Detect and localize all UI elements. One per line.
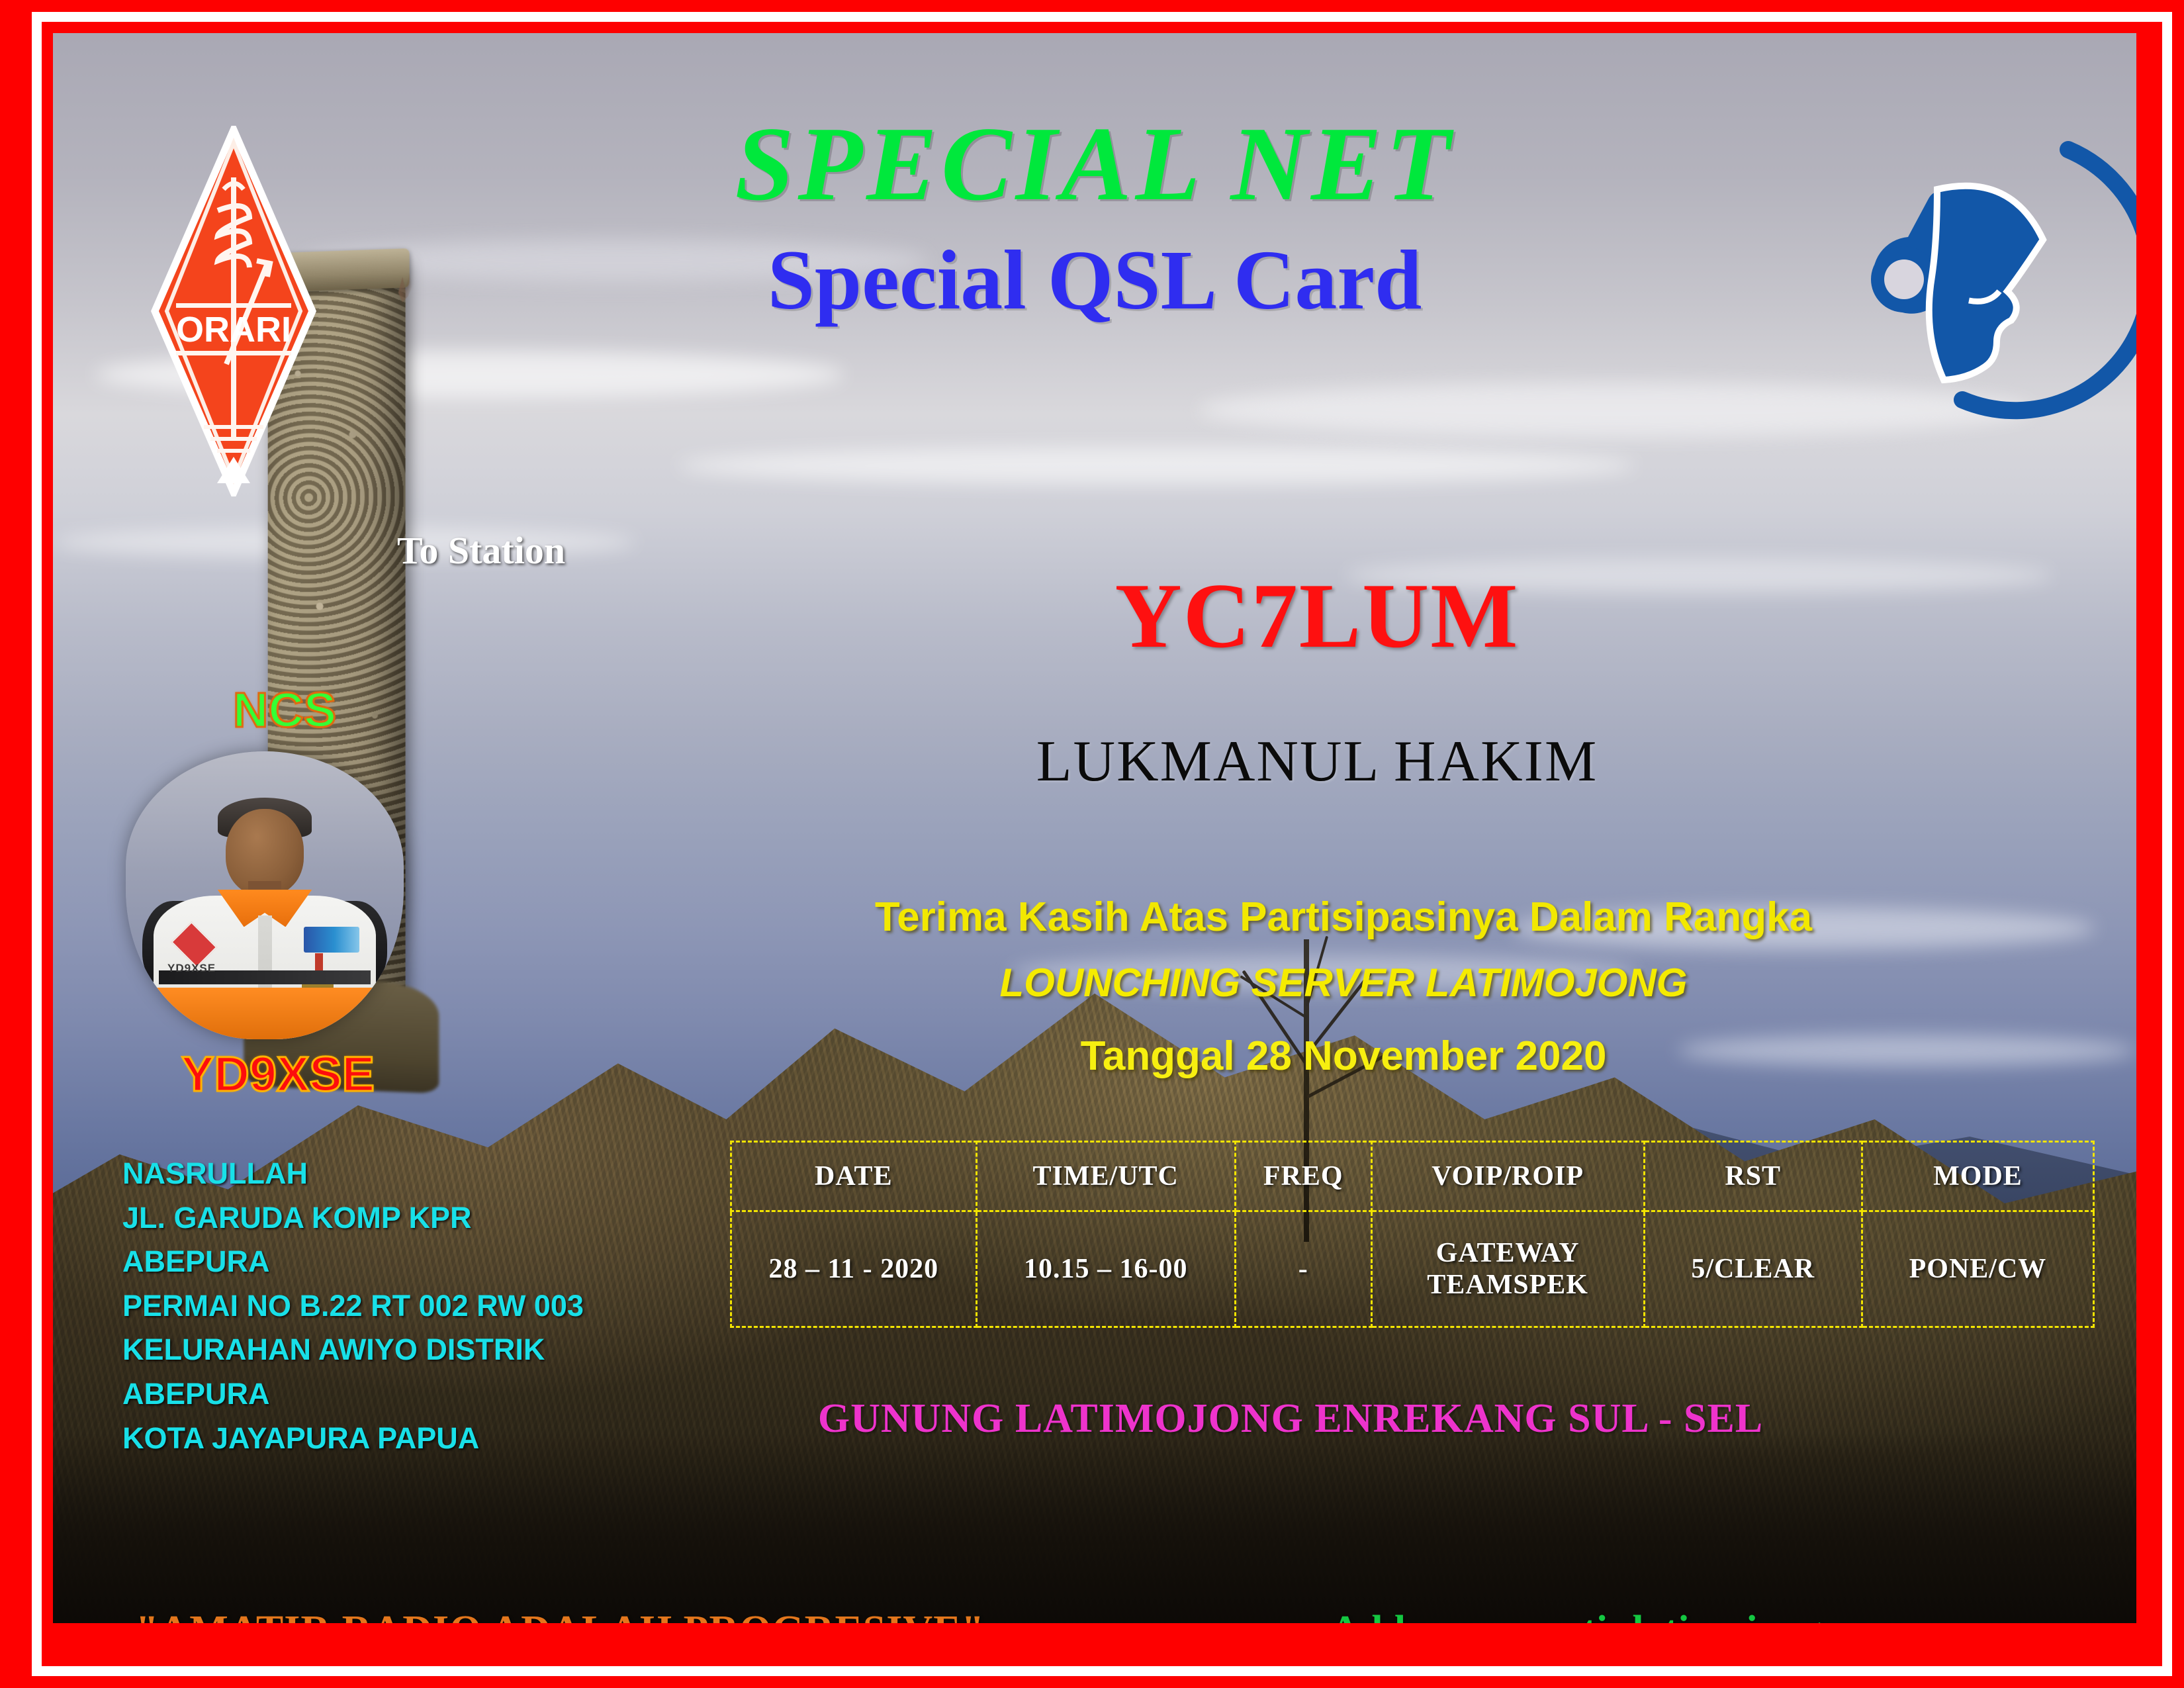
- portrait-orange-sash: [154, 988, 376, 1039]
- cell-freq: -: [1235, 1211, 1371, 1327]
- column-header-time-utc: TIME/UTC: [976, 1142, 1235, 1211]
- ncs-role-label: NCS: [185, 682, 384, 738]
- column-header-mode: MODE: [1862, 1142, 2093, 1211]
- ncs-operator-photo: YD9XSE: [126, 751, 404, 1039]
- page-subtitle-special-qsl-card: Special QSL Card: [53, 232, 2136, 329]
- qsl-card-frame: ORARI SPECIAL NET Special QSL Card: [0, 0, 2184, 1688]
- event-date-line: Tanggal 28 November 2020: [781, 1033, 1906, 1080]
- cloud-streak: [678, 447, 1636, 485]
- address-line: ABEPURA: [122, 1240, 584, 1284]
- station-callsign: YC7LUM: [821, 563, 1813, 669]
- cell-voip-roip: GATEWAY TEAMSPEK: [1371, 1211, 1644, 1327]
- to-station-label: To Station: [397, 528, 565, 573]
- cell-voip-line2: TEAMSPEK: [1374, 1269, 1642, 1301]
- address-line: NASRULLAH: [122, 1152, 584, 1196]
- cell-date: 28 – 11 - 2020: [731, 1211, 977, 1327]
- address-line: KOTA JAYAPURA PAPUA: [122, 1417, 584, 1461]
- column-header-rst: RST: [1644, 1142, 1862, 1211]
- bottom-vignette: [53, 1432, 2136, 1623]
- portrait-org-logo-patch: [304, 927, 359, 953]
- column-header-voip-roip: VOIP/ROIP: [1371, 1142, 1644, 1211]
- table-header-row: DATE TIME/UTC FREQ VOIP/ROIP RST MODE: [731, 1142, 2094, 1211]
- page-title-special-net: SPECIAL NET: [53, 103, 2136, 225]
- address-line: ABEPURA: [122, 1372, 584, 1417]
- card-background-photo: ORARI SPECIAL NET Special QSL Card: [53, 33, 2136, 1623]
- thanks-line: Terima Kasih Atas Partisipasinya Dalam R…: [781, 894, 1906, 941]
- ncs-callsign: YD9XSE: [139, 1046, 417, 1102]
- cell-voip-line1: GATEWAY: [1374, 1237, 1642, 1269]
- web-address-line: Address : amatir.latimojong.com: [1330, 1607, 1905, 1623]
- table-row: 28 – 11 - 2020 10.15 – 16-00 - GATEWAY T…: [731, 1211, 2094, 1327]
- address-line: JL. GARUDA KOMP KPR: [122, 1196, 584, 1241]
- address-line: PERMAI NO B.22 RT 002 RW 003: [122, 1284, 584, 1329]
- cell-rst: 5/CLEAR: [1644, 1211, 1862, 1327]
- cell-time: 10.15 – 16-00: [976, 1211, 1235, 1327]
- card-slogan: "AMATIR RADIO ADALAH PROGRESIVE": [136, 1607, 985, 1623]
- column-header-date: DATE: [731, 1142, 977, 1211]
- qso-log-table: DATE TIME/UTC FREQ VOIP/ROIP RST MODE 28…: [730, 1141, 2095, 1328]
- location-line: GUNUNG LATIMOJONG ENREKANG SUL - SEL: [596, 1395, 1985, 1442]
- operator-name: LUKMANUL HAKIM: [821, 728, 1813, 795]
- column-header-freq: FREQ: [1235, 1142, 1371, 1211]
- cell-mode: PONE/CW: [1862, 1211, 2093, 1327]
- event-title-line: LOUNCHING SERVER LATIMOJONG: [781, 960, 1906, 1006]
- address-line: KELURAHAN AWIYO DISTRIK: [122, 1328, 584, 1372]
- portrait-shirt-callsign: YD9XSE: [167, 962, 216, 975]
- ncs-address-block: NASRULLAH JL. GARUDA KOMP KPR ABEPURA PE…: [122, 1152, 584, 1460]
